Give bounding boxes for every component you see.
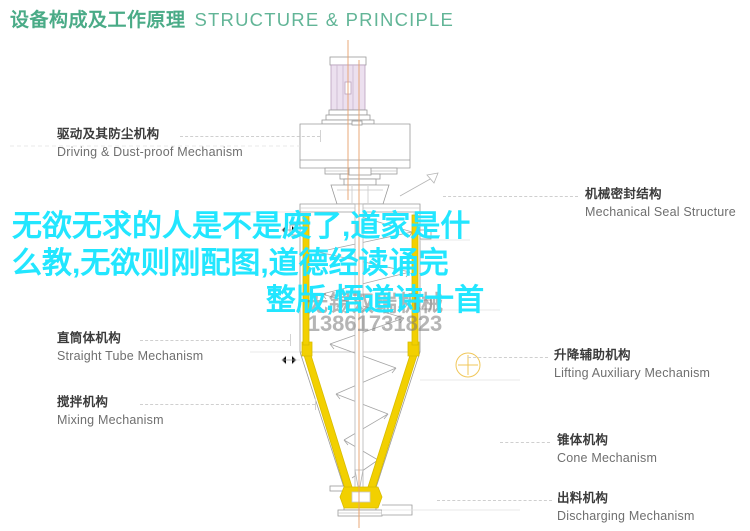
- callout-straight-tube-en: Straight Tube Mechanism: [57, 347, 203, 366]
- callout-driving-dustproof: 驱动及其防尘机构 Driving & Dust-proof Mechanism: [57, 126, 243, 162]
- callout-mixing: 搅拌机构 Mixing Mechanism: [57, 394, 164, 430]
- callout-mechanical-seal-cn: 机械密封结构: [585, 186, 736, 203]
- overlay-caption-line3: 整版,悟道诗十首: [12, 282, 738, 319]
- callout-driving-dustproof-en: Driving & Dust-proof Mechanism: [57, 143, 243, 162]
- callout-discharging-cn: 出料机构: [557, 490, 695, 507]
- callout-lifting-auxiliary-en: Lifting Auxiliary Mechanism: [554, 364, 710, 383]
- leader-tick-driving: [320, 130, 321, 142]
- overlay-caption-line1: 无欲无求的人是不是废了,道家是什: [12, 208, 738, 245]
- callout-lifting-auxiliary: 升降辅助机构 Lifting Auxiliary Mechanism: [554, 347, 710, 383]
- callout-mixing-en: Mixing Mechanism: [57, 411, 164, 430]
- leader-line-lifting: [468, 357, 548, 358]
- callout-cone: 锥体机构 Cone Mechanism: [557, 432, 657, 468]
- page-title-cn: 设备构成及工作原理: [10, 5, 186, 32]
- callout-discharging: 出料机构 Discharging Mechanism: [557, 490, 695, 526]
- leader-line-cone: [500, 442, 550, 443]
- leader-tick-mixing: [315, 398, 316, 410]
- callout-driving-dustproof-cn: 驱动及其防尘机构: [57, 126, 243, 143]
- overlay-caption: 无欲无求的人是不是废了,道家是什 么教,无欲则刚配图,道德经读诵完 整版,悟道诗…: [12, 208, 738, 319]
- callout-cone-cn: 锥体机构: [557, 432, 657, 449]
- callout-lifting-auxiliary-cn: 升降辅助机构: [554, 347, 710, 364]
- overlay-caption-line2: 么教,无欲则刚配图,道德经读诵完: [12, 245, 738, 282]
- callout-cone-en: Cone Mechanism: [557, 449, 657, 468]
- leader-line-discharging: [437, 500, 552, 501]
- callout-mixing-cn: 搅拌机构: [57, 394, 164, 411]
- callout-discharging-en: Discharging Mechanism: [557, 507, 695, 526]
- leader-line-mechanical-seal: [443, 196, 578, 197]
- page-title: 设备构成及工作原理 STRUCTURE & PRINCIPLE: [10, 5, 454, 32]
- leader-line-mixing: [140, 404, 315, 405]
- page-title-en: STRUCTURE & PRINCIPLE: [195, 9, 455, 31]
